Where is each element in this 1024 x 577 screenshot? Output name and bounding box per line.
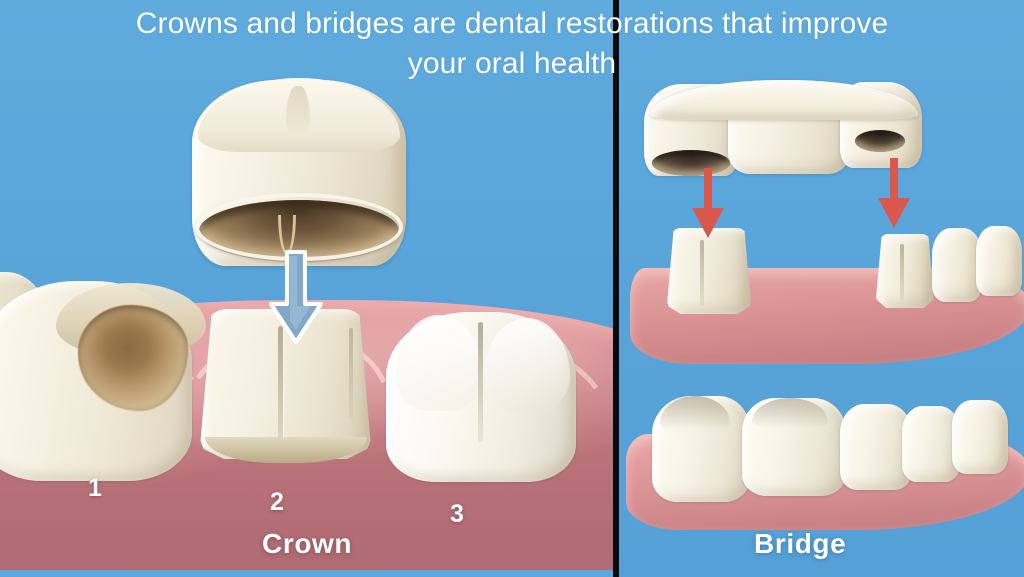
tooth-3-fissure xyxy=(478,322,483,442)
tooth-number-1: 1 xyxy=(88,474,102,503)
crown-cap-central-groove xyxy=(286,86,310,138)
illustration-canvas: 1 2 3 Crown xyxy=(0,0,1024,577)
tooth-number-2: 2 xyxy=(270,488,284,517)
tooth-number-3: 3 xyxy=(450,500,464,529)
crown-section-label: Crown xyxy=(262,528,352,560)
crown-panel: 1 2 3 Crown xyxy=(0,0,613,577)
down-arrow-icon xyxy=(266,250,326,346)
panel-divider xyxy=(613,0,619,577)
tooth-2-groove-secondary xyxy=(349,328,353,418)
bottom-blue-strip xyxy=(0,570,613,577)
